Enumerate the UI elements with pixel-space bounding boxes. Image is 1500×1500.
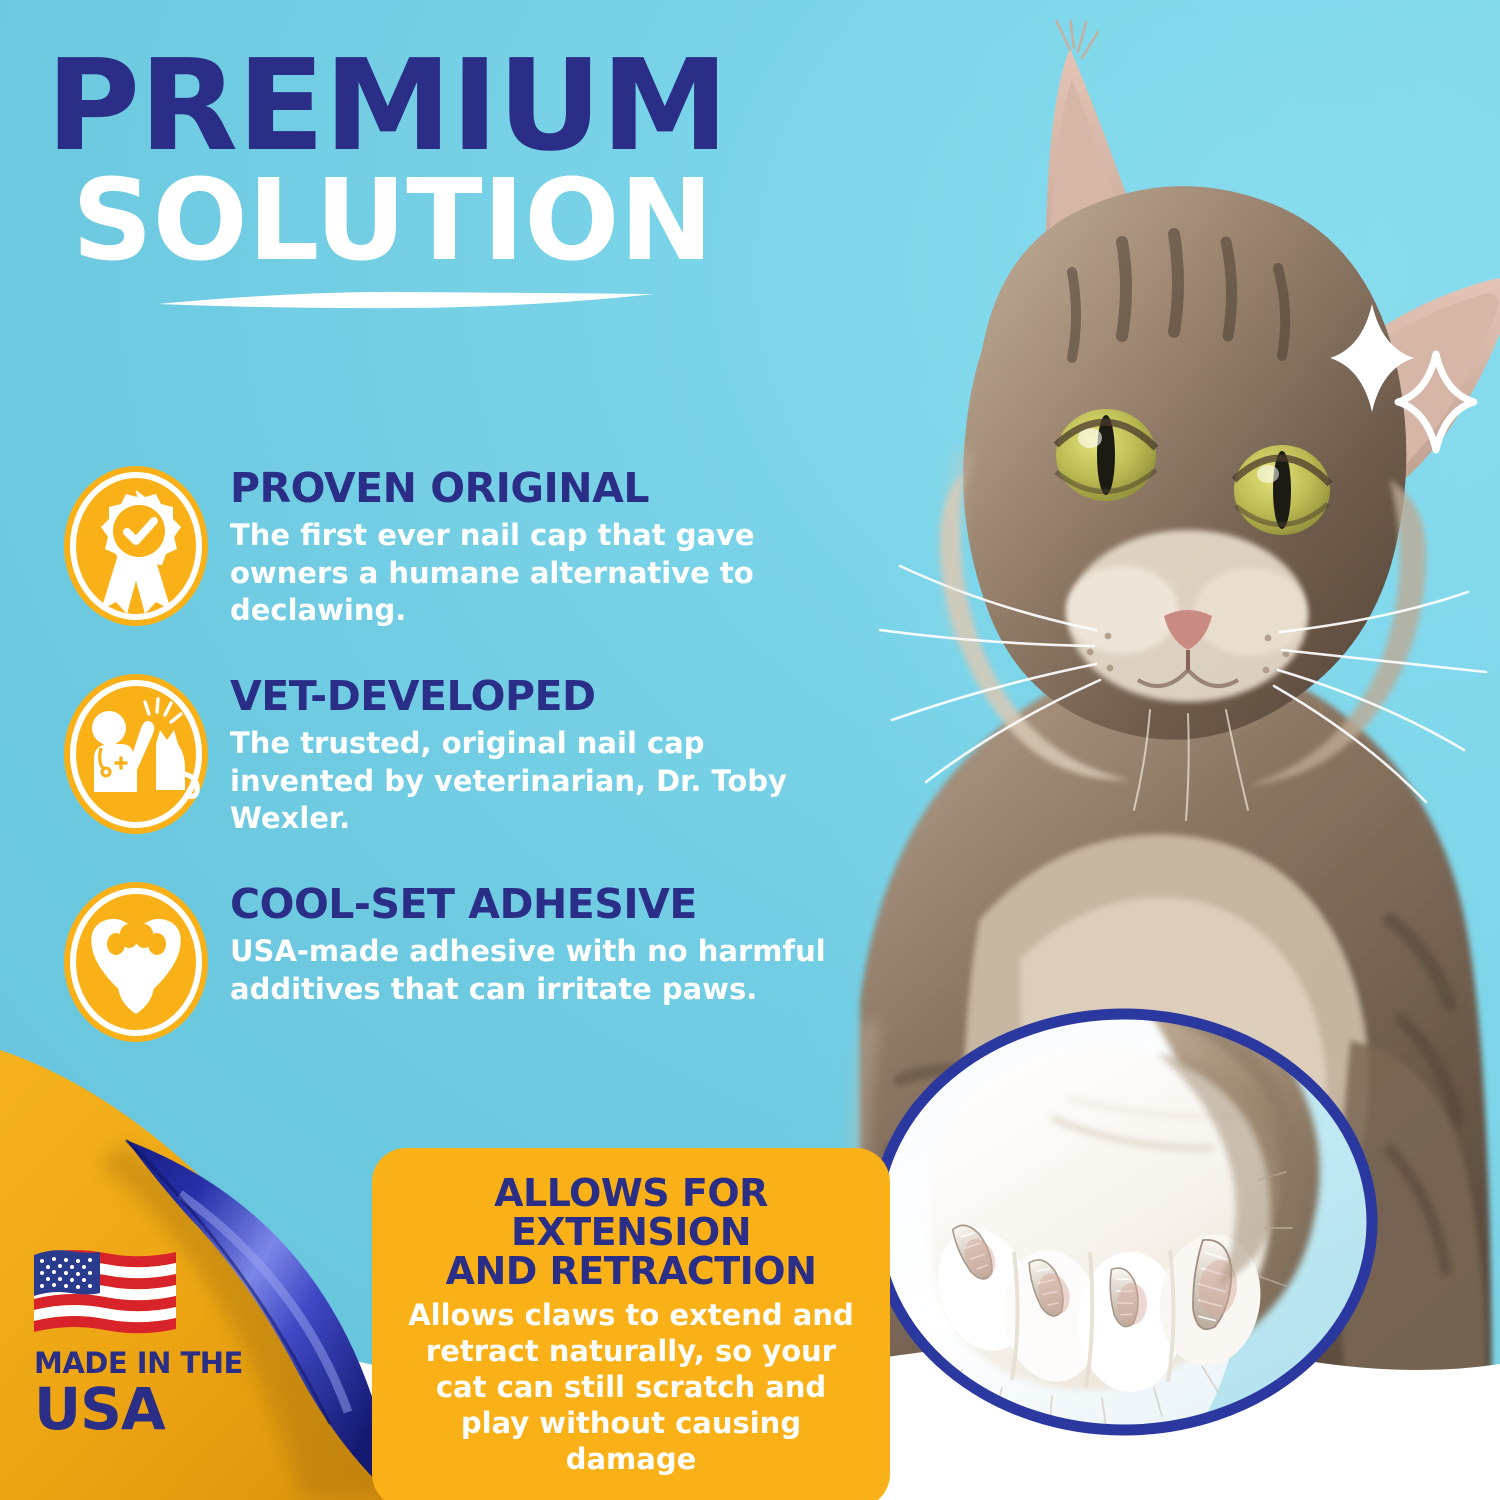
- callout-title-line2: AND RETRACTION: [446, 1249, 817, 1293]
- made-in-usa-line1: MADE IN THE: [34, 1349, 254, 1378]
- feature-list: PROVEN ORIGINAL The first ever nail cap …: [60, 462, 870, 1086]
- callout-text: Allows claws to extend and retract natur…: [398, 1298, 864, 1478]
- sparkle-star-outline-icon: [1398, 354, 1474, 450]
- headline-block: PREMIUM SOLUTION: [46, 52, 876, 316]
- sparkle-star-filled-icon: [1330, 304, 1414, 412]
- feature-text: USA-made adhesive with no harmful additi…: [230, 933, 840, 1008]
- callout-title-line1: ALLOWS FOR EXTENSION: [494, 1171, 768, 1254]
- page-title-premium: PREMIUM: [46, 52, 893, 160]
- feature-title: PROVEN ORIGINAL: [230, 468, 870, 509]
- callout-box: ALLOWS FOR EXTENSION AND RETRACTION Allo…: [372, 1148, 890, 1500]
- cat-paw-with-nail-caps-photo: [862, 1000, 1382, 1440]
- page-title-solution: SOLUTION: [72, 170, 876, 273]
- feature-text: The first ever nail cap that gave owners…: [230, 517, 840, 630]
- usa-flag-icon: [34, 1249, 176, 1335]
- veterinarian-cat-highfive-icon: [60, 670, 212, 840]
- feature-title: VET-DEVELOPED: [230, 676, 870, 717]
- product-infographic: PREMIUM SOLUTION: [0, 0, 1500, 1500]
- heart-paw-icon: [60, 878, 212, 1048]
- sparkles-group: [1310, 300, 1490, 460]
- feature-item: COOL-SET ADHESIVE USA-made adhesive with…: [60, 878, 870, 1048]
- feature-title: COOL-SET ADHESIVE: [230, 884, 870, 925]
- award-ribbon-check-icon: [60, 462, 212, 632]
- feature-text: The trusted, original nail cap invented …: [230, 725, 840, 838]
- swoosh-divider-icon: [156, 289, 656, 311]
- made-in-usa-badge: MADE IN THE USA: [34, 1249, 254, 1438]
- feature-item: VET-DEVELOPED The trusted, original nail…: [60, 670, 870, 840]
- feature-item: PROVEN ORIGINAL The first ever nail cap …: [60, 462, 870, 632]
- made-in-usa-line2: USA: [34, 1380, 254, 1438]
- callout-title: ALLOWS FOR EXTENSION AND RETRACTION: [398, 1174, 864, 1290]
